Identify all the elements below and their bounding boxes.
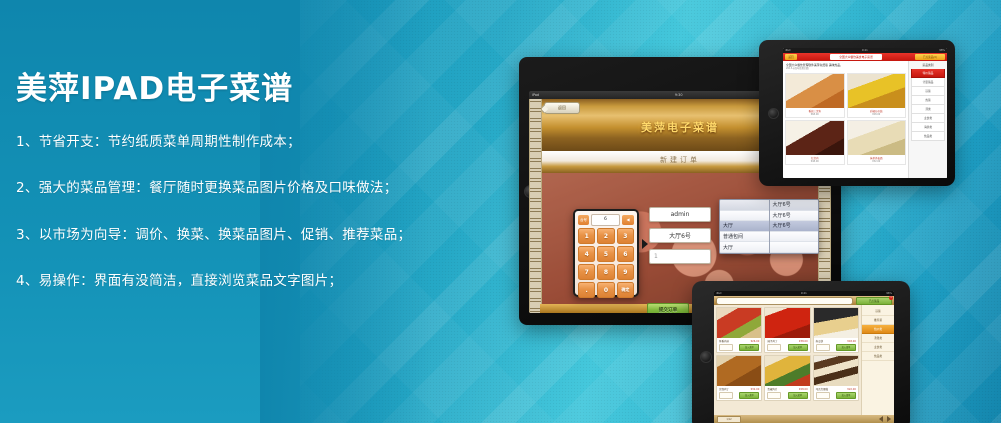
cart-label: 已点菜品 (869, 299, 879, 303)
status-time: 9:41 (801, 292, 807, 295)
status-time: 9:30 (675, 93, 683, 97)
table-row[interactable] (720, 211, 769, 222)
search-input[interactable] (716, 297, 853, 305)
dish-image (717, 356, 761, 386)
dish-name: 宫保鸡丁 (719, 387, 729, 391)
sidebar-item-category[interactable]: 主食类 (862, 343, 894, 352)
dish-price: ¥32.00 (751, 388, 760, 391)
dish-actions: 加入菜单 (717, 344, 761, 352)
dish-actions: 加入菜单 (765, 344, 809, 352)
dish-name: 青椒肉片 (767, 387, 777, 391)
app-footer: 1/12 (714, 415, 894, 423)
quantity-stepper[interactable] (719, 344, 733, 351)
status-carrier: iPad (785, 49, 790, 52)
operator-field[interactable]: admin (649, 207, 711, 222)
tablet-bottom-right-device: iPad 9:41 96% 已点菜品 3 鱼香肉丝 (692, 281, 910, 423)
table-field[interactable]: 大厅6号 (649, 228, 711, 243)
app-toolbar: 已点菜品 3 (714, 296, 894, 305)
dish-name: 鱼香肉丝 (719, 339, 729, 343)
sidebar-item-category[interactable]: 汤类 (911, 105, 945, 114)
add-to-order-button[interactable]: 加入菜单 (788, 344, 808, 351)
add-to-order-button[interactable]: 加入菜单 (739, 392, 759, 399)
dish-card[interactable]: 辣子鸡丁 ¥38.00 加入菜单 (764, 307, 810, 353)
sidebar-item-category[interactable]: 热菜 (911, 96, 945, 105)
page-title: 美萍IPAD电子菜谱 (16, 72, 446, 106)
selected-dishes-button[interactable]: 已点菜品(0) (915, 54, 945, 60)
dish-card[interactable]: 宫保鸡丁 ¥32.00 加入菜单 (716, 355, 762, 401)
home-button-icon[interactable] (700, 351, 712, 363)
sidebar-item-category[interactable]: 计量菜品 (911, 78, 945, 87)
status-battery: 98% (939, 49, 945, 52)
dish-actions: 加入菜单 (717, 392, 761, 400)
sidebar-item-category[interactable]: 海鲜类 (911, 123, 945, 132)
quantity-stepper[interactable] (719, 392, 733, 399)
dish-price: ¥22.00 (847, 388, 856, 391)
sidebar-item-category[interactable]: 凉菜 (862, 307, 894, 316)
keypad-key[interactable]: 1 (578, 228, 595, 244)
table-row[interactable] (770, 232, 819, 243)
promo-subtitle: 2013十周年感恩回馈 (786, 67, 906, 71)
dish-grid-area: 全国大众餐饮管理软件美萍免费版 美味热品。 2013十周年感恩回馈 香煎三文鱼 … (783, 61, 908, 178)
dish-card[interactable]: 南瓜饼 ¥18.00 加入菜单 (813, 307, 859, 353)
add-to-order-button[interactable]: 加入菜单 (739, 344, 759, 351)
sidebar-item-category[interactable]: 汤煲类 (862, 334, 894, 343)
sidebar-item-category[interactable]: 热炒类 (862, 325, 894, 334)
status-time: 9:41 (862, 49, 868, 52)
keypad-key[interactable]: 3 (617, 228, 634, 244)
sidebar-item-category[interactable]: 主食类 (911, 114, 945, 123)
dish-image (814, 356, 858, 386)
dish-image (765, 308, 809, 338)
add-to-order-button[interactable]: 加入菜单 (836, 392, 856, 399)
dish-image (848, 74, 906, 108)
dish-grid: 香煎三文鱼 ¥68.00 彩椒炒杂蔬 ¥28.00 红烧肉 ¥48.00 (785, 73, 906, 165)
app-body: 鱼香肉丝 ¥26.00 加入菜单 辣子鸡丁 (714, 305, 894, 415)
keypad-label: 台号 (578, 215, 589, 225)
dish-card[interactable]: 红烧肉 ¥48.00 (785, 120, 845, 165)
add-to-order-button[interactable]: 加入菜单 (836, 344, 856, 351)
dish-price: ¥18.00 (847, 340, 856, 343)
sidebar-item-category[interactable]: 饮品类 (862, 352, 894, 361)
sidebar-item-category[interactable]: 特价菜品 (911, 69, 945, 78)
keypad-input[interactable]: 6 (591, 214, 620, 226)
table-row[interactable]: 大厅6号 (770, 200, 819, 211)
table-picker-panel[interactable]: 大厅 普通包间 大厅 大厅6号 大厅6号 大厅6号 (719, 199, 819, 254)
keypad-key[interactable]: 7 (578, 264, 595, 280)
feature-bullet-1: 1、节省开支：节约纸质菜单周期性制作成本； (16, 132, 446, 152)
feature-bullet-3: 3、以市场为向导：调价、换菜、换菜品图片、促销、推荐菜品； (16, 225, 446, 245)
keypad-key[interactable]: 8 (597, 264, 614, 280)
dish-price: ¥32.00 (848, 160, 906, 164)
page-indicator: 1/12 (717, 416, 741, 423)
table-row[interactable] (770, 242, 819, 253)
keypad-key[interactable]: 0 (597, 282, 614, 298)
table-row[interactable]: 大厅6号 (770, 211, 819, 222)
keypad-key[interactable]: 9 (617, 264, 634, 280)
dish-price: ¥26.00 (751, 340, 760, 343)
dish-grid: 鱼香肉丝 ¥26.00 加入菜单 辣子鸡丁 (716, 307, 859, 401)
cart-badge: 3 (889, 296, 893, 300)
sidebar-item-category[interactable]: 饮品类 (911, 132, 945, 141)
dish-price: ¥48.00 (786, 160, 844, 164)
home-button-icon[interactable] (768, 108, 779, 119)
promo-banner: 美萍IPAD电子菜谱 1、节省开支：节约纸质菜单周期性制作成本； 2、强大的菜品… (0, 0, 1001, 423)
chevron-left-icon[interactable] (879, 416, 883, 422)
keypad-key[interactable]: . (578, 282, 595, 298)
ornament-border-left (529, 99, 542, 313)
dish-card[interactable]: 青椒肉片 ¥28.00 加入菜单 (764, 355, 810, 401)
sidebar-title: 菜品类别 (911, 63, 945, 67)
keypad-display: 台号 6 ◀ (578, 214, 634, 225)
dish-actions: 加入菜单 (765, 392, 809, 400)
keypad-key[interactable]: 6 (617, 246, 634, 262)
add-to-order-button[interactable]: 加入菜单 (788, 392, 808, 399)
cart-button[interactable]: 已点菜品 3 (856, 297, 892, 305)
table-row[interactable]: 大厅 (720, 221, 769, 232)
promo-banner-text: 全国大众餐饮管理软件美萍免费版 美味热品。 2013十周年感恩回馈 (785, 63, 906, 71)
table-picker-table-column: 大厅6号 大厅6号 大厅6号 (770, 200, 819, 253)
category-sidebar: 菜品类别 特价菜品 计量菜品 凉菜 热菜 汤类 主食类 海鲜类 饮品类 (908, 61, 947, 178)
back-button[interactable]: 返回 (785, 54, 797, 60)
dish-name: 南瓜饼 (816, 339, 824, 343)
status-carrier: iPad (532, 93, 539, 97)
dish-price: ¥38.00 (799, 340, 808, 343)
order-form-fields: admin 大厅6号 1 (649, 207, 711, 270)
pagination-controls (879, 416, 891, 422)
table-picker-area-column: 大厅 普通包间 大厅 (720, 200, 770, 253)
dish-image (848, 121, 906, 155)
dish-image (814, 308, 858, 338)
dish-card[interactable]: 鱼香肉丝 ¥26.00 加入菜单 (716, 307, 762, 353)
guests-field[interactable]: 1 (649, 249, 711, 264)
quantity-stepper[interactable] (816, 344, 830, 351)
keypad-key[interactable]: 4 (578, 246, 595, 262)
table-row[interactable]: 大厅6号 (770, 221, 819, 232)
tablet-top-right-device: iPad 9:41 98% 返回 全国大众餐饮美食电子菜谱 已点菜品(0) 全国… (759, 40, 955, 186)
keypad-key[interactable]: 5 (597, 246, 614, 262)
dish-actions: 加入菜单 (814, 392, 858, 400)
dish-card[interactable]: 香煎三文鱼 ¥68.00 (785, 73, 845, 118)
tablet-top-right-screen: iPad 9:41 98% 返回 全国大众餐饮美食电子菜谱 已点菜品(0) 全国… (783, 48, 947, 178)
feature-bullet-4: 4、易操作：界面有没简洁，直接浏览菜品文字图片； (16, 271, 446, 291)
marketing-copy: 美萍IPAD电子菜谱 1、节省开支：节约纸质菜单周期性制作成本； 2、强大的菜品… (16, 72, 446, 317)
chevron-right-icon[interactable] (887, 416, 891, 422)
status-battery: 96% (886, 292, 892, 295)
dish-price: ¥28.00 (799, 388, 808, 391)
quantity-stepper[interactable] (767, 344, 781, 351)
table-row[interactable]: 大厅 (720, 242, 769, 253)
app-body: 全国大众餐饮管理软件美萍免费版 美味热品。 2013十周年感恩回馈 香煎三文鱼 … (783, 61, 947, 178)
keypad-key-confirm[interactable]: 确定 (617, 282, 634, 298)
dish-actions: 加入菜单 (814, 344, 858, 352)
dish-name: 巧克力蛋糕 (816, 387, 829, 391)
backspace-icon[interactable]: ◀ (622, 215, 634, 225)
status-carrier: iPad (716, 292, 721, 295)
quantity-stepper[interactable] (767, 392, 781, 399)
dish-card[interactable]: 抹茶荞麦面 ¥32.00 (847, 120, 907, 165)
dish-card[interactable]: 巧克力蛋糕 ¥22.00 加入菜单 (813, 355, 859, 401)
dish-price: ¥28.00 (848, 113, 906, 117)
dish-card[interactable]: 彩椒炒杂蔬 ¥28.00 (847, 73, 907, 118)
numeric-keypad[interactable]: 台号 6 ◀ 1 2 3 4 5 6 7 8 9 . (573, 209, 639, 297)
dish-price: ¥68.00 (786, 113, 844, 117)
dish-name: 辣子鸡丁 (767, 339, 777, 343)
dish-grid-area: 鱼香肉丝 ¥26.00 加入菜单 辣子鸡丁 (714, 305, 861, 415)
keypad-key[interactable]: 2 (597, 228, 614, 244)
sidebar-item-category[interactable]: 凉菜 (911, 87, 945, 96)
keypad-grid: 1 2 3 4 5 6 7 8 9 . 0 确定 (578, 228, 634, 298)
pointer-arrow-icon (642, 239, 648, 249)
table-row[interactable] (720, 200, 769, 211)
dish-image (717, 308, 761, 338)
feature-bullet-2: 2、强大的菜品管理：餐厅随时更换菜品图片价格及口味做法； (16, 178, 446, 198)
tablet-bottom-right-screen: iPad 9:41 96% 已点菜品 3 鱼香肉丝 (714, 291, 894, 423)
back-button[interactable]: 返回 (544, 102, 580, 114)
header-title: 全国大众餐饮美食电子菜谱 (830, 54, 882, 60)
sidebar-item-category[interactable]: 推荐菜 (862, 316, 894, 325)
submit-order-button[interactable]: 提交订单 (647, 303, 689, 313)
dish-image (765, 356, 809, 386)
dish-image (786, 121, 844, 155)
quantity-stepper[interactable] (816, 392, 830, 399)
category-sidebar: 凉菜 推荐菜 热炒类 汤煲类 主食类 饮品类 (861, 305, 894, 415)
dish-image (786, 74, 844, 108)
table-row[interactable]: 普通包间 (720, 232, 769, 243)
app-header: 返回 全国大众餐饮美食电子菜谱 已点菜品(0) (783, 53, 947, 61)
